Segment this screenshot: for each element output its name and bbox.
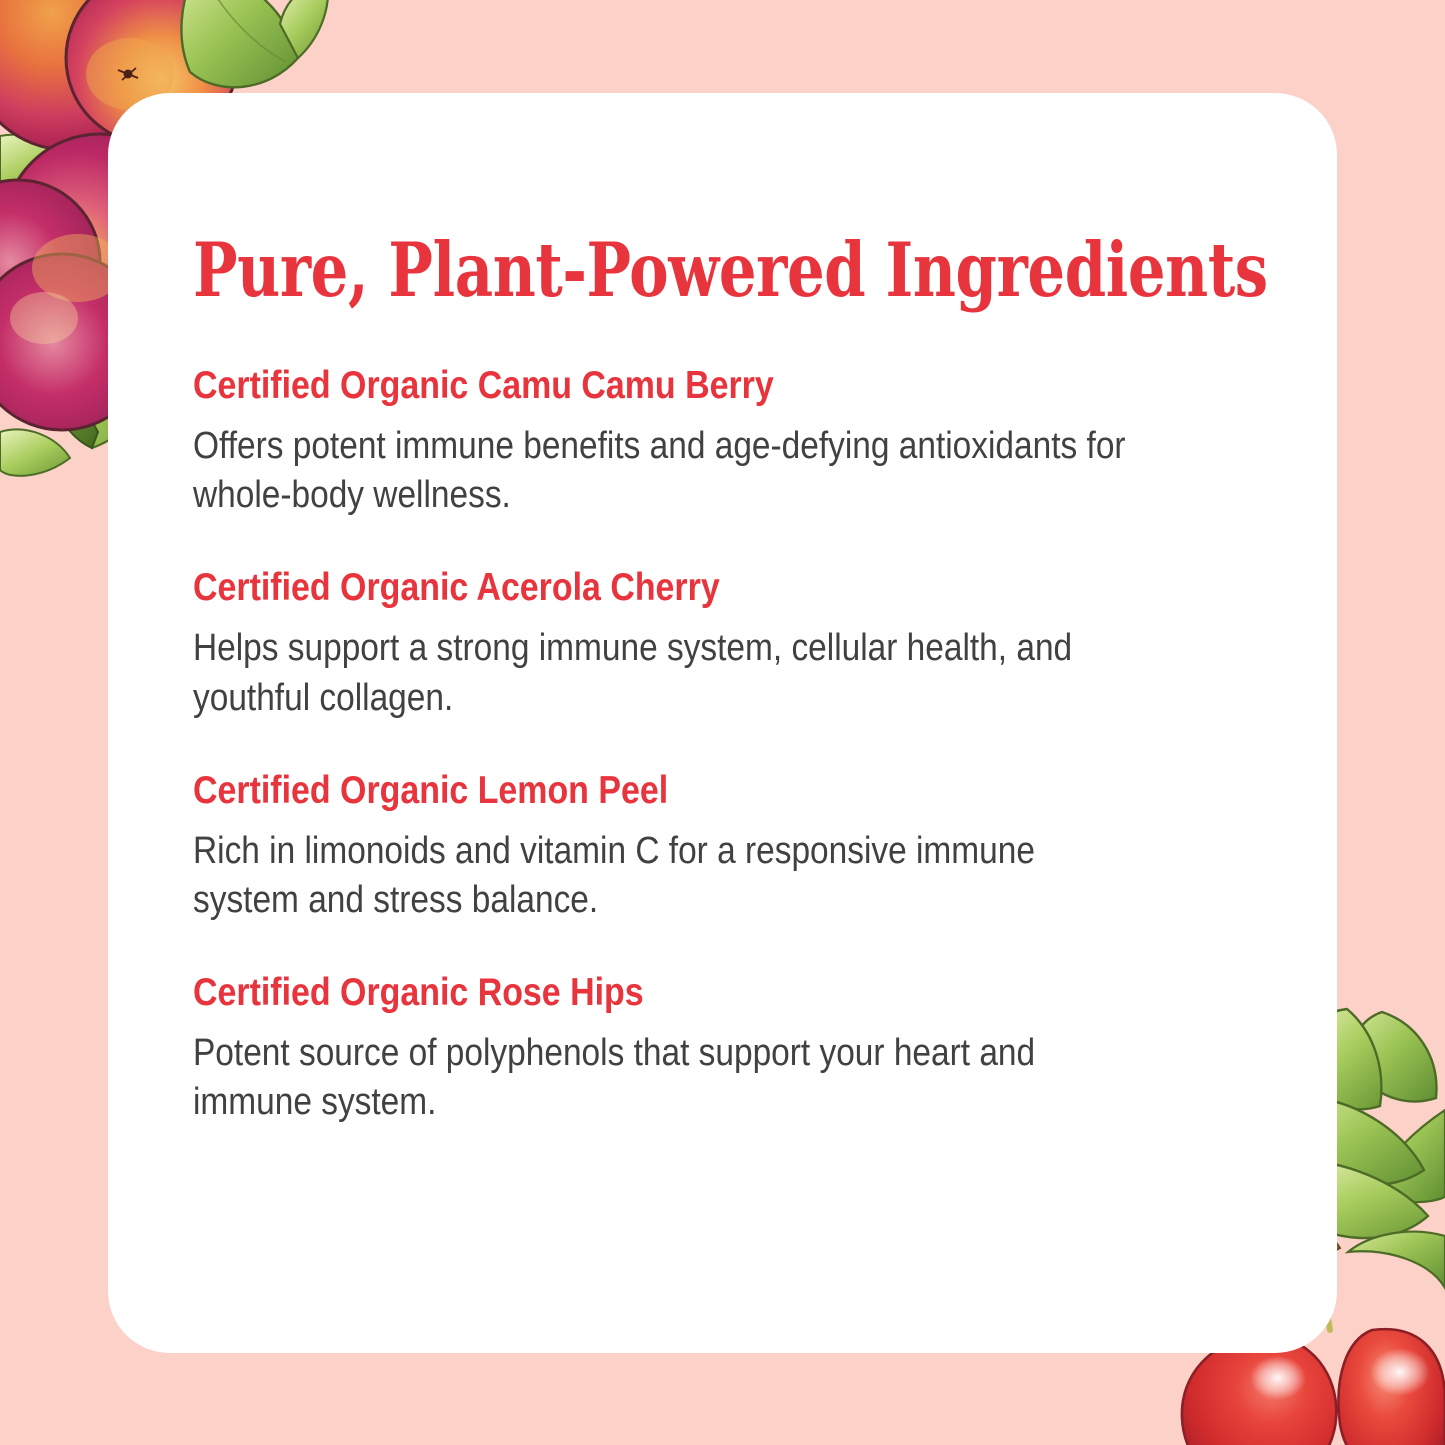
ingredient-description: Helps support a strong immune system, ce… [193, 624, 1147, 723]
ingredient-item-acerola-cherry: Certified Organic Acerola Cherry Helps s… [193, 566, 1277, 722]
page-title: Pure, Plant-Powered Ingredients [193, 233, 1049, 308]
ingredient-description: Rich in limonoids and vitamin C for a re… [193, 827, 1147, 926]
ingredient-name: Certified Organic Lemon Peel [193, 769, 1136, 813]
ingredient-name: Certified Organic Acerola Cherry [193, 566, 1136, 610]
ingredients-poster: Pure, Plant-Powered Ingredients Certifie… [0, 0, 1445, 1445]
ingredient-name: Certified Organic Camu Camu Berry [193, 364, 1136, 408]
top-center-leaf-illustration [181, 0, 328, 87]
ingredient-item-rose-hips: Certified Organic Rose Hips Potent sourc… [193, 971, 1277, 1127]
card-content: Pure, Plant-Powered Ingredients Certifie… [193, 233, 1277, 1128]
content-card: Pure, Plant-Powered Ingredients Certifie… [108, 93, 1337, 1353]
ingredient-description: Potent source of polyphenols that suppor… [193, 1029, 1147, 1128]
ingredient-item-camu-camu-berry: Certified Organic Camu Camu Berry Offers… [193, 364, 1277, 520]
ingredient-description: Offers potent immune benefits and age-de… [193, 422, 1147, 521]
ingredient-item-lemon-peel: Certified Organic Lemon Peel Rich in lim… [193, 769, 1277, 925]
ingredient-name: Certified Organic Rose Hips [193, 971, 1136, 1015]
